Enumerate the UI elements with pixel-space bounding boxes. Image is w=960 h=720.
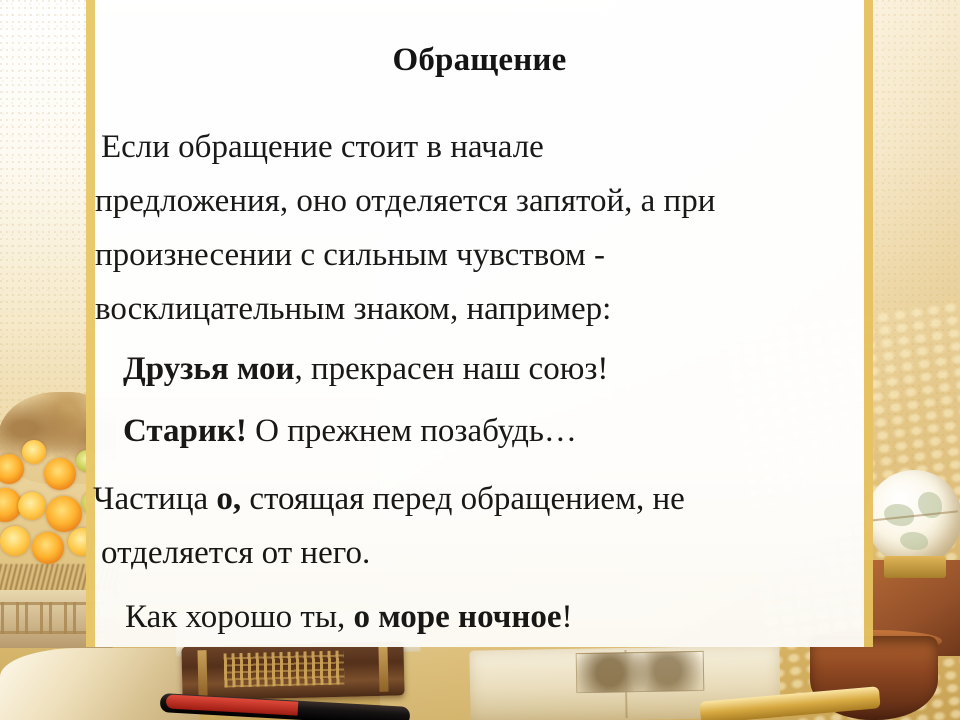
text-line: предложения, оно отделяется запятой, а п…	[93, 174, 883, 228]
globe-stand	[884, 556, 946, 578]
flower-bloom	[18, 492, 46, 520]
plain-text: отделяется от него.	[101, 535, 370, 571]
emphasised-text: Старик!	[123, 413, 247, 449]
flower-bloom	[44, 458, 76, 490]
open-book-illustration	[576, 651, 705, 693]
plain-text: !	[562, 599, 573, 635]
text-line: восклицательным знаком, например:	[93, 282, 883, 336]
globe-continent	[900, 532, 928, 550]
content-panel-inner: Обращение Если обращение стоит в начале …	[95, 0, 864, 647]
emphasised-text: Друзья мои	[123, 351, 295, 387]
flower-bloom	[22, 440, 46, 464]
plain-text: восклицательным знаком, например:	[95, 291, 611, 327]
text-line: Частица о, стоящая перед обращением, не	[93, 472, 883, 526]
plain-text: Если обращение стоит в начале	[101, 129, 544, 165]
text-line: отделяется от него.	[93, 526, 883, 580]
flower-bloom	[46, 496, 82, 532]
plain-text: произнесении с сильным чувством -	[95, 237, 605, 273]
example-line: Как хорошо ты, о море ночное!	[93, 590, 883, 644]
emphasised-text: о море ночное	[354, 599, 562, 635]
example-line: Друзья мои, прекрасен наш союз!	[93, 342, 883, 396]
content-panel: Обращение Если обращение стоит в начале …	[86, 0, 873, 647]
globe-continent	[884, 504, 914, 526]
text-line: Если обращение стоит в начале	[93, 120, 883, 174]
globe-continent	[918, 492, 942, 518]
emphasised-text: о,	[216, 481, 241, 517]
plain-text: стоящая перед обращением, не	[241, 481, 685, 517]
plain-text: предложения, оно отделяется запятой, а п…	[95, 183, 715, 219]
flower-bloom	[0, 526, 30, 556]
plain-text: Как хорошо ты,	[125, 599, 354, 635]
plain-text: , прекрасен наш союз!	[295, 351, 609, 387]
flower-bloom	[32, 532, 64, 564]
plain-text: Частица	[93, 481, 216, 517]
slide-title: Обращение	[95, 42, 864, 79]
plain-text: О прежнем позабудь…	[247, 413, 577, 449]
slide-body-text: Если обращение стоит в начале предложени…	[93, 120, 883, 644]
text-line: произнесении с сильным чувством -	[93, 228, 883, 282]
presentation-slide: Обращение Если обращение стоит в начале …	[0, 0, 960, 720]
example-line: Старик! О прежнем позабудь…	[93, 404, 883, 458]
book-gilt-lettering	[224, 651, 345, 688]
flower-bloom	[0, 454, 24, 484]
